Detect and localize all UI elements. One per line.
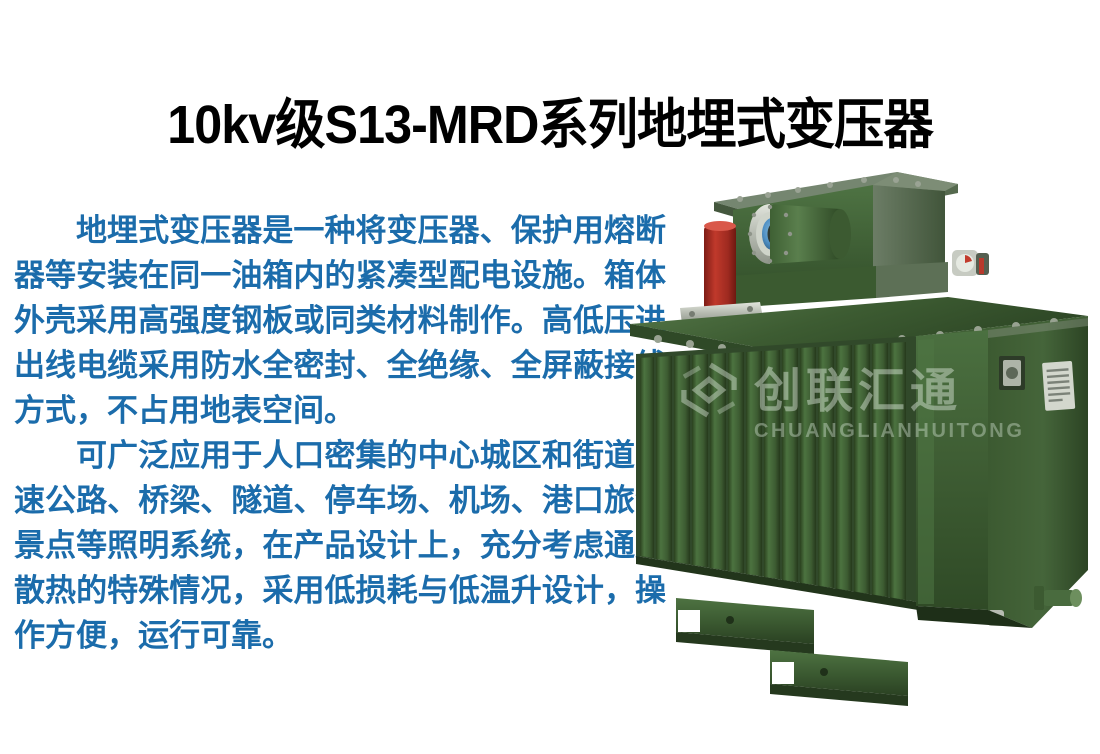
tank-front-panel <box>916 330 988 610</box>
product-description: 地埋式变压器是一种将变压器、保护用熔断器等安装在同一油箱内的紧凑型配电设施。箱体… <box>14 208 666 658</box>
page-title: 10kv级S13-MRD系列地埋式变压器 <box>39 92 1062 158</box>
description-paragraph-1: 地埋式变压器是一种将变压器、保护用熔断器等安装在同一油箱内的紧凑型配电设施。箱体… <box>14 208 666 433</box>
tank-end-wall <box>988 318 1088 628</box>
cooling-fins <box>636 336 918 610</box>
transformer-top-box <box>714 172 958 308</box>
skid-rails <box>676 598 908 706</box>
product-photo <box>618 158 1100 724</box>
product-banner: 10kv级S13-MRD系列地埋式变压器 地埋式变压器是一种将变压器、保护用熔断… <box>0 0 1100 754</box>
oil-gauge <box>952 250 989 276</box>
description-paragraph-2: 可广泛应用于人口密集的中心城区和街道高速公路、桥梁、隧道、停车场、机场、港口旅游… <box>14 433 666 658</box>
